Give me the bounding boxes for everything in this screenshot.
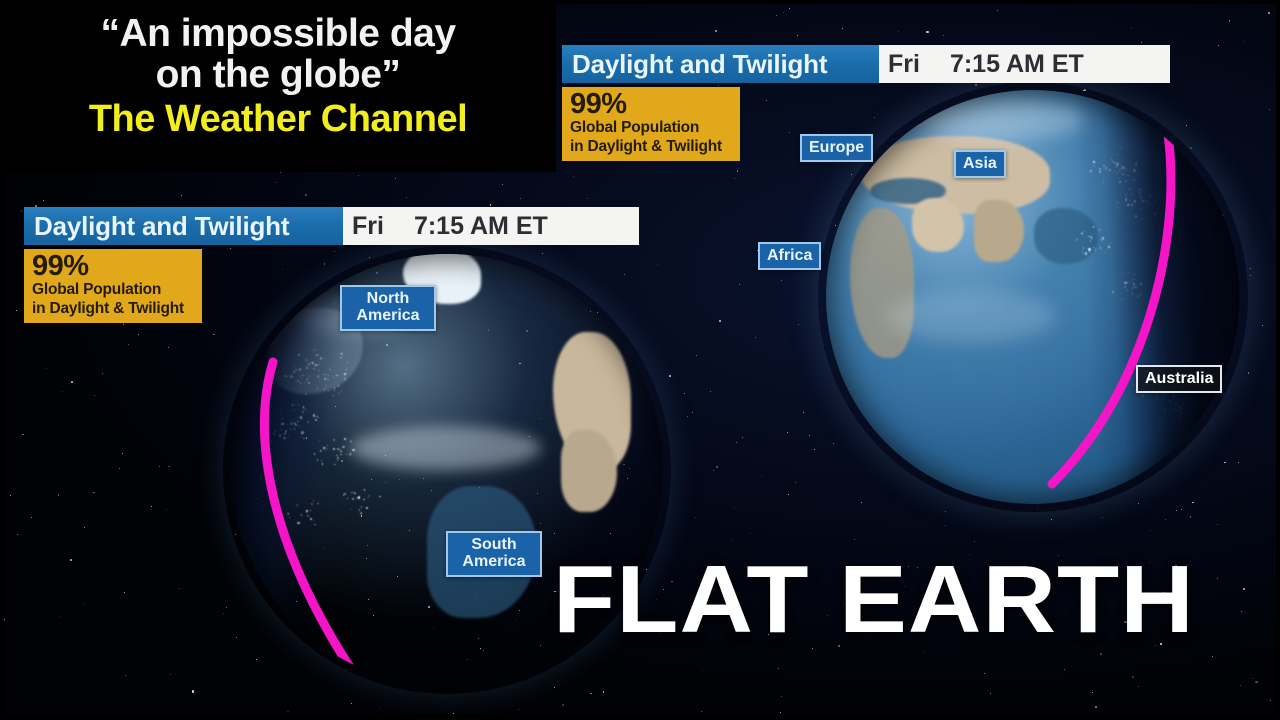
banner-bottom: Daylight and Twilight Fri 7:15 AM ET 99%… (24, 207, 639, 323)
banner-title-text: Daylight and Twilight (562, 45, 879, 83)
banner-clock-text: 7:15 AM ET (950, 52, 1084, 77)
flat-earth-caption: FLAT EARTH (553, 552, 1195, 648)
label-africa[interactable]: Africa (758, 242, 821, 270)
banner-day-text: Fri (352, 214, 384, 239)
banner-time-block: Fri 7:15 AM ET (879, 45, 1170, 83)
stat-line-1: Global Population (570, 119, 732, 137)
stat-box: 99% Global Population in Daylight & Twil… (24, 249, 202, 323)
screenshot-canvas: North America South America Europe Asia … (0, 0, 1280, 720)
stat-line-2: in Daylight & Twilight (32, 300, 194, 318)
banner-title-text: Daylight and Twilight (24, 207, 343, 245)
quote-line-1: “An impossible day (0, 14, 556, 55)
stat-line-2: in Daylight & Twilight (570, 138, 732, 156)
label-south-america[interactable]: South America (446, 531, 542, 577)
stat-percent: 99% (32, 251, 194, 281)
headline-quote: “An impossible day on the globe” The Wea… (0, 14, 556, 140)
banner-clock-text: 7:15 AM ET (414, 214, 548, 239)
letterbox-left (0, 0, 4, 720)
banner-title-row: Daylight and Twilight Fri 7:15 AM ET (24, 207, 639, 245)
letterbox-top (0, 0, 1280, 4)
stat-box: 99% Global Population in Daylight & Twil… (562, 87, 740, 161)
stat-percent: 99% (570, 89, 732, 119)
quote-attribution: The Weather Channel (0, 98, 556, 141)
quote-line-2: on the globe” (0, 55, 556, 96)
letterbox-bottom (0, 714, 1280, 720)
letterbox-right (1276, 0, 1280, 720)
stat-line-1: Global Population (32, 281, 194, 299)
label-australia[interactable]: Australia (1136, 365, 1222, 393)
banner-title-row: Daylight and Twilight Fri 7:15 AM ET (562, 45, 1170, 83)
banner-day-text: Fri (888, 52, 920, 77)
banner-top: Daylight and Twilight Fri 7:15 AM ET 99%… (562, 45, 1170, 161)
banner-time-block: Fri 7:15 AM ET (343, 207, 639, 245)
